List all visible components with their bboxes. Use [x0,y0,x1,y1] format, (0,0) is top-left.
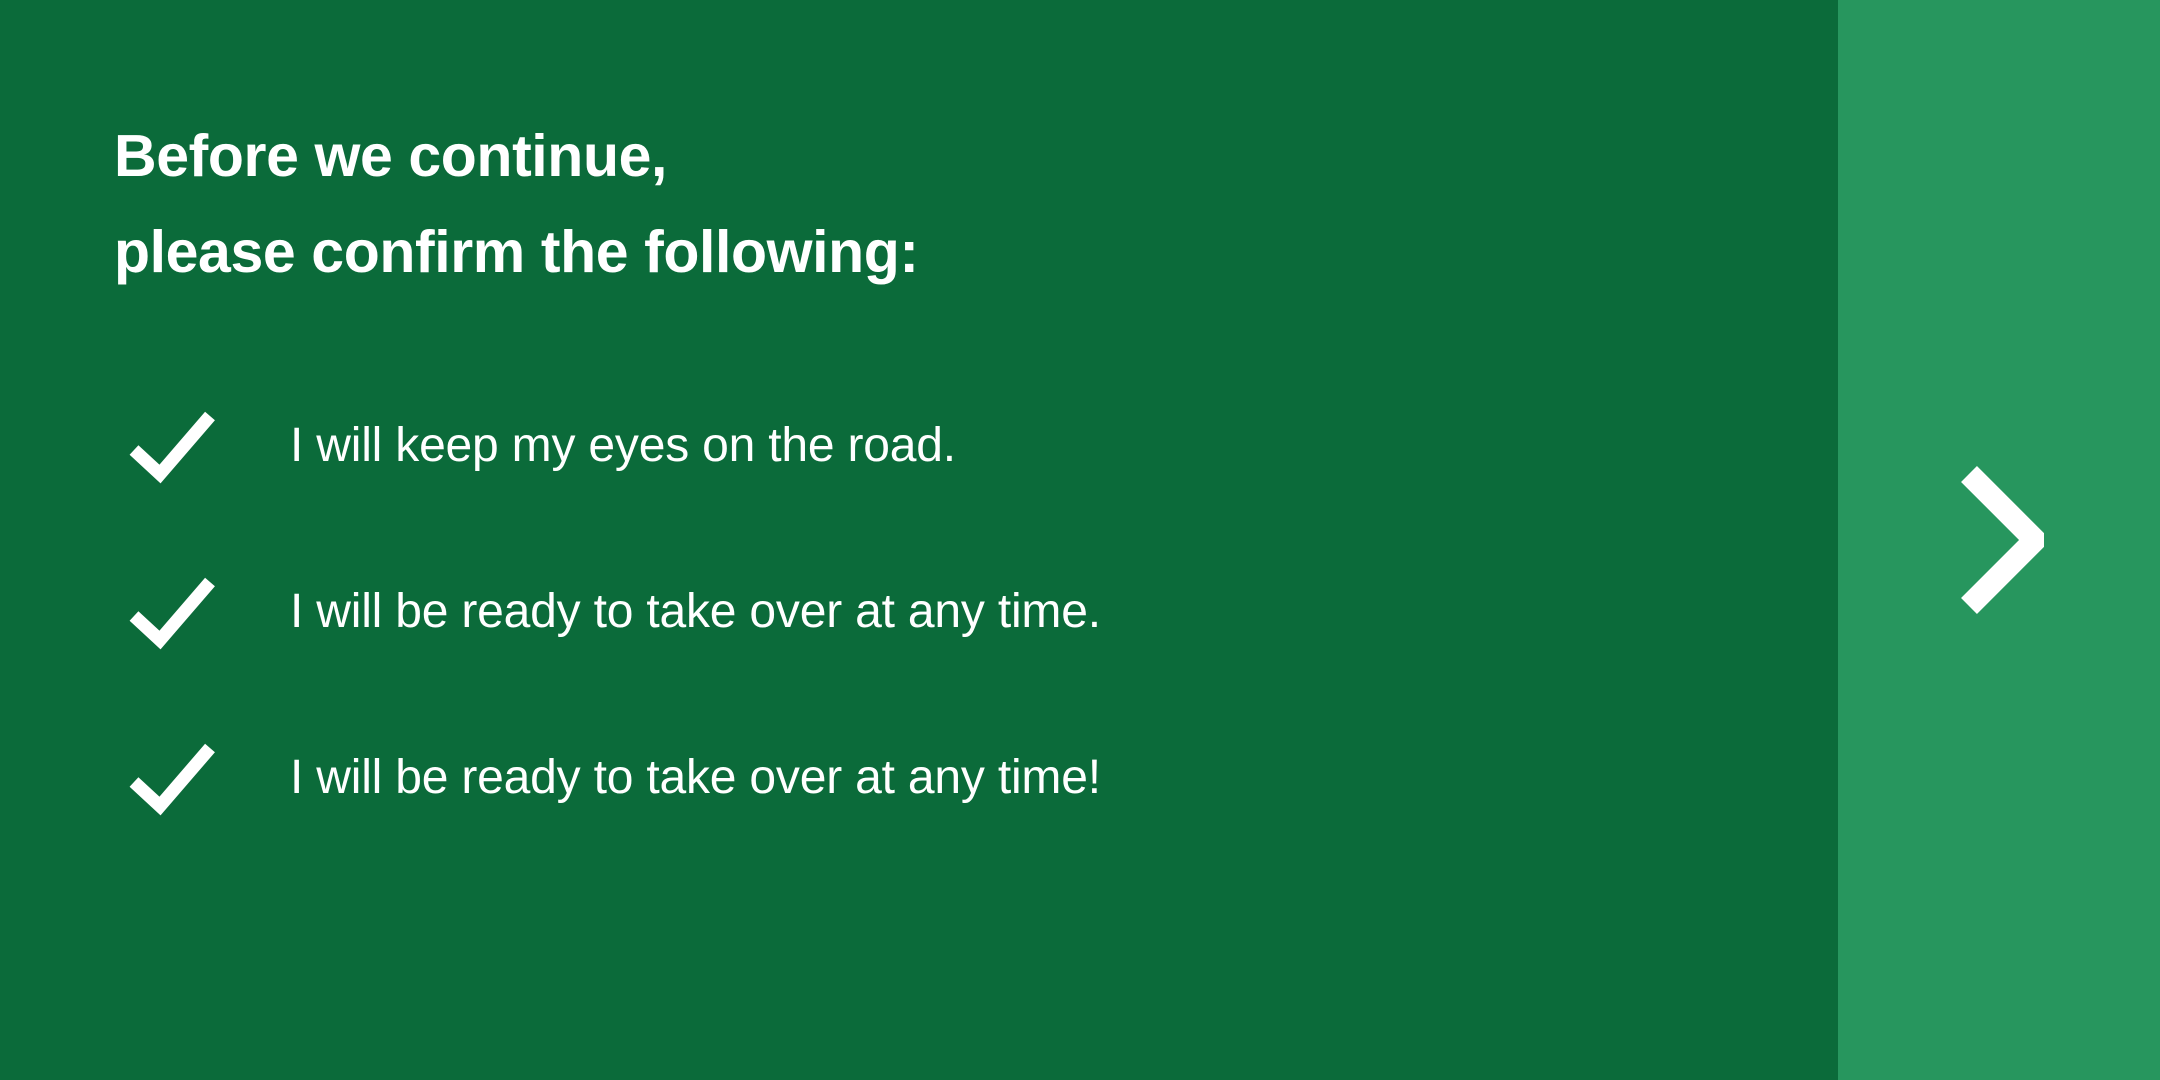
chevron-right-icon [1954,465,2044,615]
next-button[interactable] [1838,0,2160,1080]
list-item-label: I will be ready to take over at any time… [290,588,1101,636]
list-item-label: I will be ready to take over at any time… [290,754,1101,802]
confirmation-screen: Before we continue, please confirm the f… [0,0,2160,1080]
list-item-label: I will keep my eyes on the road. [290,422,956,470]
confirmation-checklist: I will keep my eyes on the road. I will … [114,398,1101,826]
check-icon [114,398,290,494]
list-item[interactable]: I will be ready to take over at any time… [114,564,1101,660]
page-title: Before we continue, please confirm the f… [114,108,919,300]
list-item[interactable]: I will be ready to take over at any time… [114,730,1101,826]
check-icon [114,564,290,660]
main-panel: Before we continue, please confirm the f… [0,0,1838,1080]
check-icon [114,730,290,826]
list-item[interactable]: I will keep my eyes on the road. [114,398,1101,494]
